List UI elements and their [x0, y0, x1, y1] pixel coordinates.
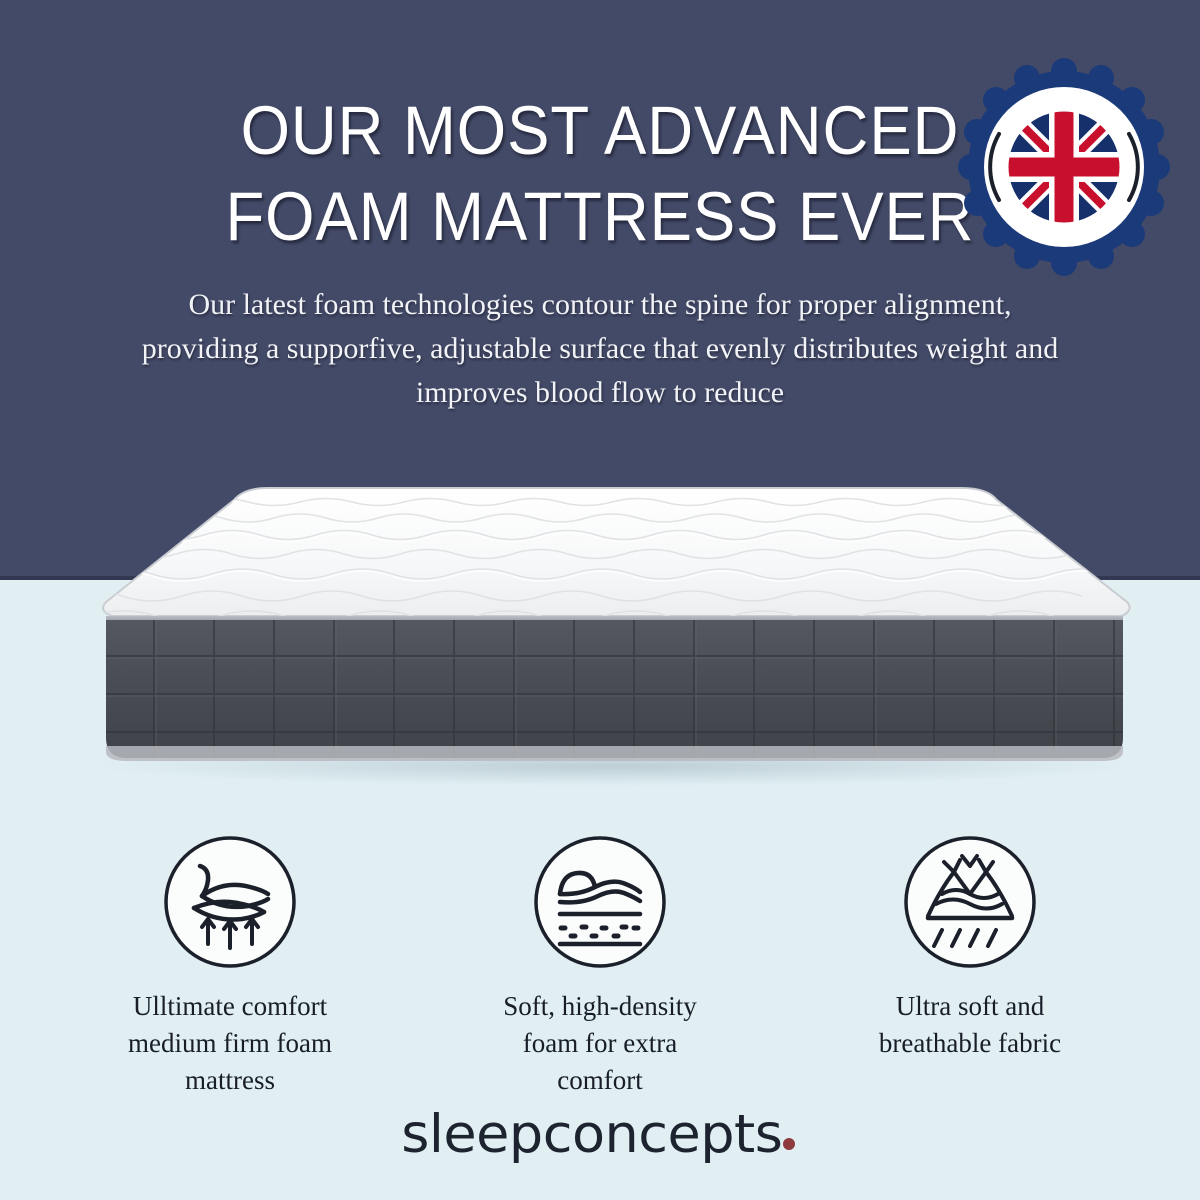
- brand-wordmark: sleepconcepts: [401, 1104, 782, 1165]
- feature-caption: Soft, high-density foam for extra comfor…: [503, 988, 697, 1099]
- hero-subcopy: Our latest foam technologies contour the…: [130, 283, 1070, 415]
- feature-list: Ulltimate comfort medium firm foam mattr…: [60, 832, 1140, 1099]
- breathable-fabric-icon: [900, 832, 1040, 972]
- feature-caption: Ulltimate comfort medium firm foam mattr…: [128, 988, 332, 1099]
- mattress-side: [106, 620, 1123, 758]
- product-marketing-image: OUR MOST ADVANCED FOAM MATTRESS EVER Our…: [0, 0, 1200, 1200]
- foam-mattress: [92, 470, 1137, 800]
- union-jack-badge: [955, 52, 1173, 280]
- feature-item: Ulltimate comfort medium firm foam mattr…: [60, 832, 400, 1099]
- foam-layers-icon: [530, 832, 670, 972]
- brand-dot-icon: [783, 1138, 795, 1150]
- feature-item: Ultra soft and breathable fabric: [800, 832, 1140, 1099]
- brand-logo: sleepconcepts: [0, 1104, 1200, 1165]
- body-support-arrows-icon: [160, 832, 300, 972]
- mattress-top: [92, 488, 1132, 621]
- feature-caption: Ultra soft and breathable fabric: [879, 988, 1061, 1062]
- feature-item: Soft, high-density foam for extra comfor…: [430, 832, 770, 1099]
- mattress-bottom-piping: [106, 746, 1123, 761]
